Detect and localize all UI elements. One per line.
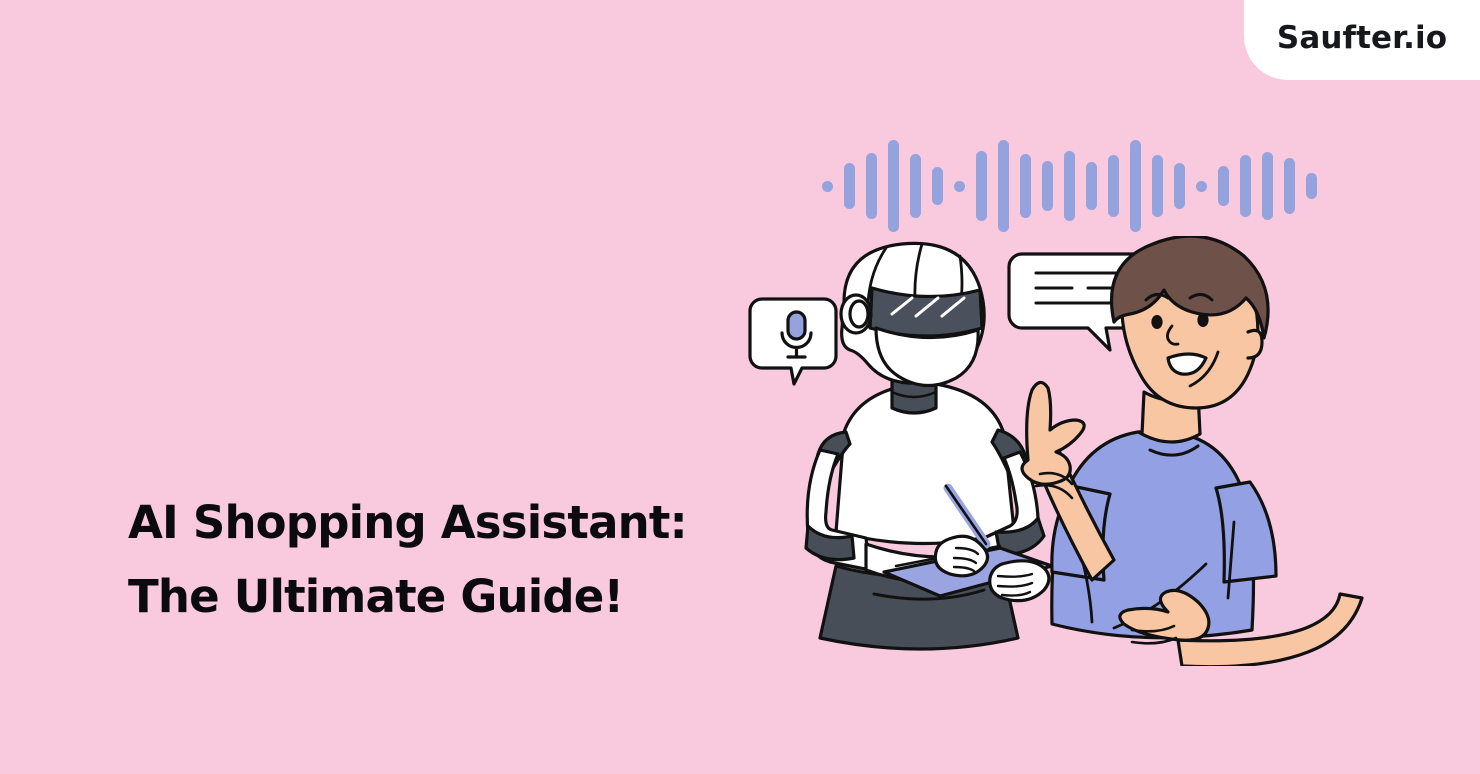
robot-hand-writing (935, 536, 987, 576)
waveform-bar (1152, 155, 1163, 217)
waveform-bar (888, 140, 899, 232)
waveform-bar (1020, 154, 1031, 218)
waveform-bar (932, 167, 943, 205)
waveform-bar (1108, 155, 1119, 217)
man-eye-right (1197, 313, 1208, 327)
man-hand-pointing (1022, 382, 1084, 484)
waveform-bar (844, 163, 855, 209)
hero-illustration (740, 236, 1390, 666)
waveform-bar (1240, 155, 1251, 217)
waveform-bar (1262, 152, 1273, 220)
page-title: AI Shopping Assistant: The Ultimate Guid… (128, 486, 748, 634)
robot-visor (870, 288, 982, 336)
waveform-bar (1130, 140, 1141, 232)
logo-text: Saufter.io (1277, 20, 1447, 56)
waveform-bar (1306, 173, 1317, 199)
audio-waveform-icon (822, 140, 1270, 232)
waveform-bar (866, 153, 877, 219)
banner-root: Saufter.io AI Shopping Assistant: The Ul… (0, 0, 1480, 774)
waveform-bar (1174, 163, 1185, 209)
waveform-bar (954, 181, 965, 192)
mic-speech-bubble (750, 299, 836, 384)
robot-ear-inner (850, 301, 868, 327)
waveform-bar (1284, 158, 1295, 214)
page-title-line-2: The Ultimate Guide! (128, 560, 748, 634)
man-eye-left (1151, 315, 1162, 329)
page-title-line-1: AI Shopping Assistant: (128, 486, 748, 560)
logo-badge[interactable]: Saufter.io (1244, 0, 1480, 80)
waveform-bar (1042, 161, 1053, 211)
waveform-bar (910, 154, 921, 218)
microphone-icon (788, 312, 805, 339)
waveform-bar (1218, 166, 1229, 206)
waveform-bar (1064, 151, 1075, 221)
waveform-bar (1086, 162, 1097, 210)
man-ear (1248, 330, 1262, 358)
waveform-bar (976, 151, 987, 221)
illustration-svg (740, 236, 1390, 666)
waveform-bar (1196, 181, 1207, 192)
man-sleeve-right (1216, 482, 1276, 582)
waveform-bar (998, 140, 1009, 232)
waveform-bar (822, 181, 833, 192)
